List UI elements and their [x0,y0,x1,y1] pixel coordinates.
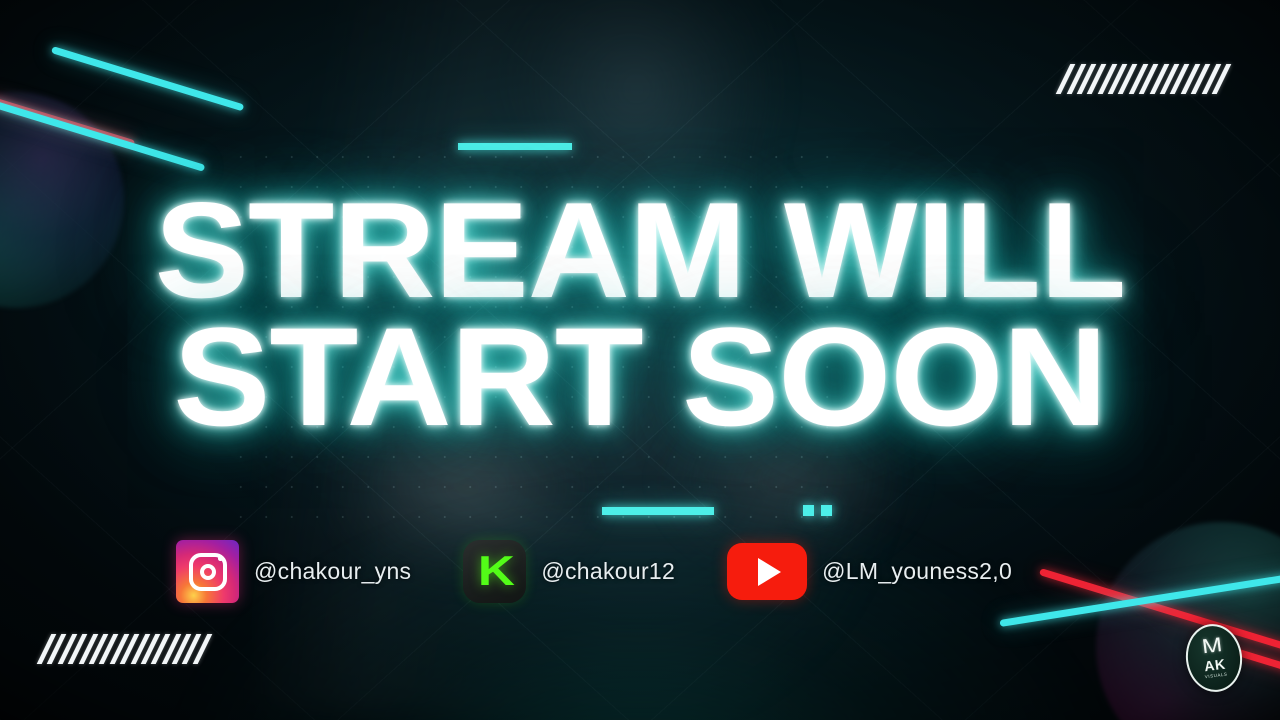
instagram-icon[interactable] [176,540,239,603]
kick-icon-glyph: K [478,550,513,592]
social-links: @chakour_yns K @chakour12 @LM_youness2,0 [176,540,1012,603]
brand-subtitle: VISUALS [1205,673,1228,680]
youtube-icon-play [758,558,781,586]
accent-bar-bottom [602,507,714,515]
accent-square-one [803,505,814,516]
social-youtube[interactable]: @LM_youness2,0 [727,543,1012,600]
stream-overlay: STREAM WILL START SOON @chakour_yns K @c… [0,0,1280,720]
accent-square-two [821,505,832,516]
instagram-icon-dot [218,556,223,561]
social-instagram[interactable]: @chakour_yns [176,540,411,603]
hatch-marks-bottom-left [44,634,205,664]
instagram-handle: @chakour_yns [254,558,411,585]
instagram-icon-lens [200,564,216,580]
instagram-icon-frame [189,553,227,591]
brand-initials: AK [1203,657,1226,673]
kick-handle: @chakour12 [541,558,675,585]
accent-bar-top [458,143,572,150]
youtube-icon[interactable] [727,543,807,600]
hatch-marks-top-right [1063,64,1224,94]
youtube-handle: @LM_youness2,0 [822,558,1012,585]
kick-icon[interactable]: K [463,540,526,603]
eagle-icon: Ꮇ [1202,636,1223,657]
social-kick[interactable]: K @chakour12 [463,540,675,603]
